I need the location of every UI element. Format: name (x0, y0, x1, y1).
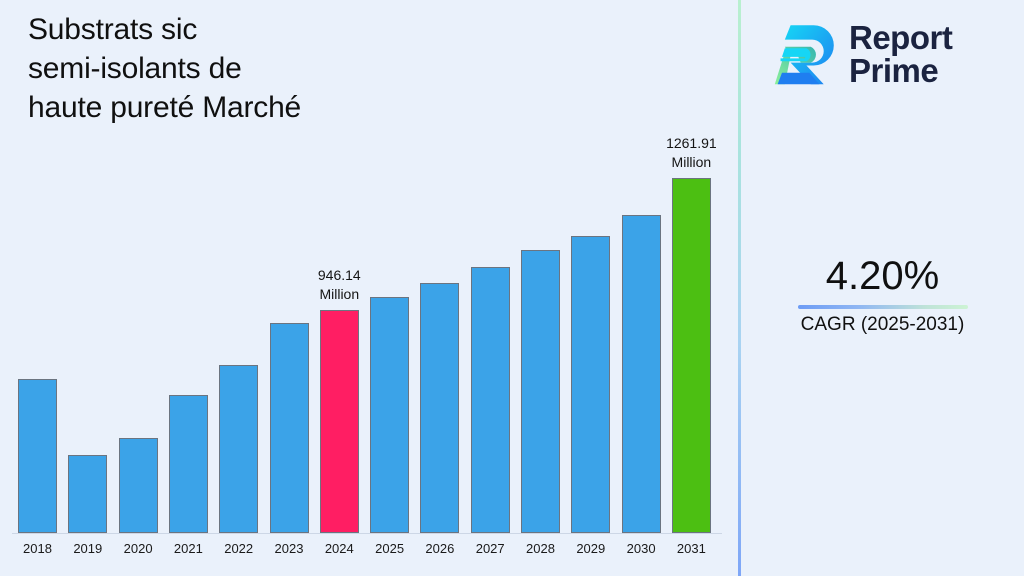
bar-2023[interactable] (270, 323, 309, 533)
bar-2030[interactable] (622, 215, 661, 533)
x-tick-2031: 2031 (661, 541, 721, 556)
cagr-rule (798, 305, 968, 309)
cagr-value: 4.20% (741, 253, 1024, 299)
bar-chart: 201820192020202120222023946.14 Million20… (0, 0, 739, 576)
cagr-caption: CAGR (2025-2031) (741, 313, 1024, 337)
bar-2024[interactable] (320, 310, 359, 533)
bar-2021[interactable] (169, 395, 208, 533)
bar-2018[interactable] (18, 379, 57, 533)
bar-2025[interactable] (370, 297, 409, 533)
bar-2026[interactable] (420, 283, 459, 533)
chart-panel: Substrats sic semi-isolants de haute pur… (0, 0, 739, 576)
bar-2031[interactable] (672, 178, 711, 533)
bar-value-label-2031: 1261.91 Million (631, 134, 751, 172)
bar-2029[interactable] (571, 236, 610, 533)
bar-2020[interactable] (119, 438, 158, 533)
bar-2022[interactable] (219, 365, 258, 533)
report-prime-r-logo-icon (769, 18, 841, 90)
summary-panel: Report Prime 4.20% CAGR (2025-2031) (741, 0, 1024, 576)
brand-logo: Report Prime (769, 14, 1017, 94)
bar-2027[interactable] (471, 267, 510, 533)
x-axis-line (12, 533, 722, 534)
cagr-block: 4.20% CAGR (2025-2031) (741, 253, 1024, 337)
bar-2028[interactable] (521, 250, 560, 533)
brand-wordmark: Report Prime (849, 21, 952, 87)
infographic-root: Substrats sic semi-isolants de haute pur… (0, 0, 1024, 576)
bar-2019[interactable] (68, 455, 107, 533)
